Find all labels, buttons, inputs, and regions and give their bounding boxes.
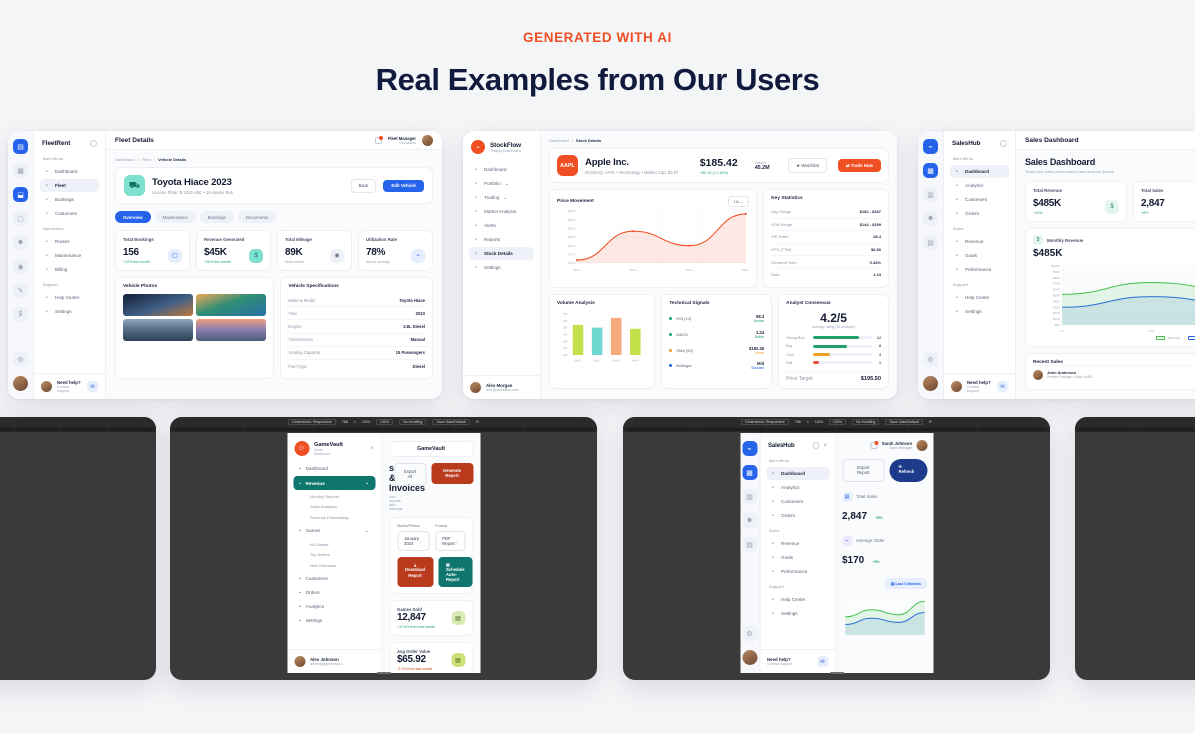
vehicle-hero: ⛟ Toyota Hiace 2023 License Plate: B 123… [115, 167, 433, 204]
sidebar-item-goals[interactable]: •Goals [950, 249, 1009, 262]
sidebar-item-dashboard[interactable]: •Dashboard [40, 165, 99, 178]
dollar-icon: $ [1033, 235, 1043, 245]
device-frame-right-partial[interactable]: ◎ In You 1PersonalBasic info2PackageServ… [1075, 417, 1195, 680]
sidebar-item-bookings[interactable]: •Bookings [40, 193, 99, 206]
rail-users-icon[interactable]: ☻ [923, 211, 938, 226]
watchlist-button[interactable]: ★ Watchlist [788, 158, 827, 173]
avatar [951, 381, 962, 392]
dt-width[interactable]: 768 [342, 420, 348, 424]
period-label: Month/Period [397, 524, 429, 528]
stat-value: $485K [1033, 198, 1061, 209]
stock-sidebar[interactable]: ⌁ StockFlow Trading Dashboard •Dashboard… [463, 131, 541, 399]
sidebar-item-customers[interactable]: •Customers [950, 193, 1009, 206]
mobile-nav[interactable]: Main Menu•Dashboard•Analytics•Customers•… [760, 453, 835, 621]
sidebar-item-settings[interactable]: •Settings [766, 607, 829, 620]
status-dot [669, 364, 672, 367]
nav-section-label: Support [944, 277, 1015, 290]
sidebar-item-label: Settings [55, 309, 72, 314]
sidebar-item-label: Orders [965, 211, 979, 216]
sidebar-item-settings[interactable]: •Settings [950, 305, 1009, 318]
dt-x: × [807, 420, 809, 424]
mobile-brand: SalesHub [768, 443, 795, 449]
signal-value: $182.45 [749, 346, 764, 351]
rail-chart-icon[interactable]: ▥ [742, 489, 757, 504]
dt-height[interactable]: 1024 [815, 420, 823, 424]
question-icon: • [46, 295, 51, 301]
gv-item-label: Orders [306, 590, 320, 595]
sidebar-item-label: Trading [484, 195, 499, 200]
nav-section-label: Sales [760, 523, 835, 536]
breadcrumb-item[interactable]: Stock Details [576, 138, 601, 143]
nav-section-label: Support [760, 579, 835, 592]
gamevault-nav[interactable]: •Dashboard•Revenue⌄Monthly ReportsSales … [287, 461, 381, 628]
stat-delta: Miles driven [285, 260, 304, 264]
target-value: $195.50 [861, 376, 881, 382]
period-value: January 2024 [404, 536, 419, 546]
sidebar-item-market-analysis[interactable]: •Market Analysis [469, 205, 534, 218]
gear-icon: • [956, 309, 961, 315]
consensus-bar [813, 353, 872, 356]
breadcrumb-item[interactable]: Dashboard [549, 138, 569, 143]
svg-text:Week 2: Week 2 [594, 359, 602, 362]
chat-icon[interactable]: ✉ [87, 381, 98, 392]
rail-clipboard-icon[interactable]: ▤ [923, 235, 938, 250]
rail-users-icon[interactable]: ☻ [742, 513, 757, 528]
sidebar-item-label: Performance [965, 267, 991, 272]
grid-icon: • [772, 471, 777, 477]
period-select[interactable]: January 2024⌄ [397, 531, 429, 551]
consensus-count: 1 [872, 361, 881, 365]
legend-item: Last Year [1188, 336, 1195, 340]
svg-text:$185.00: $185.00 [568, 227, 576, 230]
devtools-toolbar[interactable]: Dimensions: Responsive 768 × 1024 100% N… [623, 417, 1050, 427]
sales-sidebar-header: SalesHub [944, 131, 1015, 151]
bell-icon[interactable] [871, 442, 878, 449]
key-stat-value: $182 - $187 [860, 209, 881, 214]
svg-text:50M: 50M [563, 326, 567, 329]
sidebar-item-label: Help Center [55, 295, 80, 300]
sidebar-item-revenue[interactable]: •Revenue [950, 235, 1009, 248]
consensus-row: Strong Buy12 [786, 334, 881, 342]
gauge-icon: ◉ [330, 249, 344, 263]
rail-gear-icon[interactable]: ⚙ [742, 626, 757, 641]
breadcrumb-item[interactable]: Dashboard [115, 157, 135, 162]
gamevault-drawer[interactable]: ⚇ GameVault Admin Dashboard × •Dashboard… [287, 433, 382, 673]
sidebar-item-label: Analytics [781, 485, 799, 490]
stat-delta: Above average [366, 260, 390, 264]
gv-subitem[interactable]: Sales Analytics [287, 502, 381, 513]
mobile-drawer[interactable]: SalesHub × Main Menu•Dashboard•Analytics… [760, 433, 836, 673]
tab-documents[interactable]: Documents [238, 211, 276, 223]
dt-zoom[interactable]: 100% [829, 419, 846, 425]
resize-handle[interactable] [623, 661, 1050, 679]
sidebar-item-fleet[interactable]: •Fleet [40, 179, 99, 192]
rail-dollar-icon[interactable]: $ [13, 307, 28, 322]
svg-text:$80K: $80K [1053, 276, 1060, 280]
breadcrumb[interactable]: Dashboard›Stock Details [549, 138, 889, 143]
key-stat-row: 52W Range$144 - $199 [771, 219, 881, 232]
sidebar-item-alerts[interactable]: •Alerts [469, 219, 534, 232]
screenshot-card-stockflow[interactable]: ⌁ StockFlow Trading Dashboard •Dashboard… [463, 131, 897, 399]
export-all-button[interactable]: Export All [394, 463, 426, 486]
fleet-icon-rail[interactable]: ▤ ▦ ⬓ ▢ ☻ ◉ ✎ $ ⚙ [8, 131, 34, 399]
fleet-help-block[interactable]: Need help? Contact support ✉ [34, 373, 105, 399]
rail-grid-icon[interactable]: ▦ [923, 163, 938, 178]
stat-value: 156 [123, 247, 150, 258]
consensus-label: Hold [786, 353, 813, 357]
rail-users-icon[interactable]: ☻ [13, 235, 28, 250]
revenue-label: Monthly Revenue [1047, 238, 1083, 243]
photo-thumb[interactable] [123, 319, 193, 341]
gv-item-label: Settings [306, 618, 323, 623]
gv-item-games[interactable]: •Games⌄ [293, 524, 375, 538]
svg-text:Jan: Jan [1059, 329, 1064, 333]
search-icon[interactable] [1000, 140, 1007, 147]
photo-thumb[interactable] [123, 294, 193, 316]
dollar-icon: • [956, 239, 961, 245]
svg-text:$190.00: $190.00 [568, 210, 576, 213]
rotate-icon[interactable]: ⟳ [476, 420, 479, 424]
stat-card: Revenue Generated$45K+20% this month$ [196, 230, 271, 271]
rail-clipboard-icon[interactable]: ▤ [742, 537, 757, 552]
calendar-icon: • [46, 197, 51, 203]
mob-stat2-label: Average Order [856, 538, 885, 543]
sidebar-item-analytics[interactable]: •Analytics [766, 481, 829, 494]
rail-logo-icon[interactable]: ▤ [13, 139, 28, 154]
stock-change: +$2.15 (+1.18%) [700, 171, 738, 175]
status-dot [669, 317, 672, 320]
back-button[interactable]: Back [351, 179, 377, 193]
avatar[interactable] [916, 440, 927, 451]
sidebar-item-label: Customers [781, 499, 803, 504]
sale-row: John AndersonPremier Package • Order #14… [1033, 365, 1195, 383]
key-stat-label: Dividend Yield [771, 260, 796, 265]
stock-nav[interactable]: •Dashboard•Portfolio⌄•Trading⌄•Market An… [463, 162, 540, 275]
gv-item-label: Games [306, 528, 321, 533]
sidebar-item-portfolio[interactable]: •Portfolio⌄ [469, 177, 534, 190]
chevron-down-icon: ⌄ [365, 528, 369, 534]
mobile-icon-rail[interactable]: ⌁ ▦ ▥ ☻ ▤ ⚙ [740, 433, 760, 673]
generate-report-button[interactable]: Generate Report [431, 463, 473, 484]
rail-wrench-icon[interactable]: ✎ [13, 283, 28, 298]
sidebar-item-label: Alerts [484, 223, 496, 228]
stat-delta: +20% this month [204, 260, 231, 264]
stat-value: 2,847 [1141, 198, 1165, 209]
volume-value: 45.2M [755, 165, 770, 171]
download-report-button[interactable]: ⤓ Download Report [397, 557, 433, 587]
refresh-button[interactable]: ⟳ Refresh [890, 459, 927, 482]
specs-title: Vehicle Specifications [288, 284, 425, 289]
sidebar-item-label: Customers [965, 197, 987, 202]
dt-device[interactable]: Save Gate/Default [432, 419, 469, 425]
spec-key: Make & Model [288, 298, 315, 303]
devtools-tabs[interactable] [1075, 427, 1195, 432]
breadcrumb-sep: › [154, 157, 155, 162]
devtools-tabs[interactable] [170, 427, 597, 432]
sidebar-item-performance[interactable]: •Performance [766, 565, 829, 578]
legend-swatch [1156, 336, 1165, 340]
gv-item-revenue[interactable]: •Revenue⌄ [293, 476, 375, 490]
rail-chart-icon[interactable]: ▥ [923, 187, 938, 202]
spec-key: Engine [288, 324, 301, 329]
screenshot-card-fleetrent[interactable]: ▤ ▦ ⬓ ▢ ☻ ◉ ✎ $ ⚙ FleetRent Main [8, 131, 442, 399]
svg-text:$100K: $100K [1051, 264, 1060, 268]
dt-zoom[interactable]: 100% [376, 419, 393, 425]
photo-thumb[interactable] [196, 319, 266, 341]
svg-text:20M: 20M [563, 347, 567, 350]
sidebar-item-label: Goals [781, 555, 793, 560]
page-title: Sales Dashboard [1025, 157, 1195, 167]
mob-stat1-value: 2,847 [842, 511, 867, 522]
devtools-tabs[interactable] [623, 427, 1050, 432]
sidebar-item-trading[interactable]: •Trading⌄ [469, 191, 534, 204]
sales-icon-rail[interactable]: ⌁ ▦ ▥ ☻ ▤ ⚙ [918, 131, 944, 399]
stock-user-block[interactable]: Alex Morgan alex@stockflow.com [463, 375, 540, 399]
gv-topbar-title: GameVault [389, 441, 473, 457]
tag-icon: • [475, 251, 480, 257]
sidebar-item-analytics[interactable]: •Analytics [950, 179, 1009, 192]
home-icon: • [475, 167, 480, 173]
chevron-down-icon: ⌄ [365, 480, 369, 486]
devtools-tabs[interactable] [0, 427, 156, 432]
vehicle-photos-panel: Vehicle Photos [115, 277, 274, 379]
users-icon: • [46, 211, 51, 217]
sales-sidebar[interactable]: SalesHub Main Menu•Dashboard•Analytics•C… [944, 131, 1016, 399]
export-report-button[interactable]: Export Report [842, 459, 885, 482]
gv-subitem[interactable]: Top Sellers [287, 549, 381, 560]
gv-item-label: Customers [306, 576, 328, 581]
vehicle-title: Toyota Hiace 2023 [152, 177, 233, 188]
rail-gear-icon[interactable]: ⚙ [923, 352, 938, 367]
svg-text:$182.50: $182.50 [568, 236, 576, 239]
price-line-chart: $190.00$187.50$185.00$182.50$180.00$177.… [557, 207, 749, 273]
dollar-icon: $ [1105, 200, 1119, 214]
sidebar-item-billing[interactable]: •Billing [40, 263, 99, 276]
key-stats-list: Day Range$182 - $18752W Range$144 - $199… [771, 206, 881, 281]
tab-overview[interactable]: Overview [115, 211, 151, 223]
gamepad-icon: ▤ [451, 611, 465, 625]
fleet-stat-cards: Total Bookings156+12% this month▢Revenue… [115, 230, 433, 271]
svg-text:Feb: Feb [1149, 329, 1155, 333]
question-icon: • [772, 597, 777, 603]
bell-icon[interactable] [375, 137, 382, 144]
sidebar-item-label: Dashboard [965, 169, 989, 174]
fleet-topbar: Fleet Details Fleet Manager Operations [106, 131, 442, 150]
sidebar-item-orders[interactable]: •Orders [950, 207, 1009, 220]
format-label: Format [435, 524, 465, 528]
volume-analysis-panel: Volume Analysis 70M60M50M40M30M20M10MWee… [549, 294, 655, 390]
schedule-label: Schedule Auto-Report [446, 567, 465, 582]
sidebar-item-routes[interactable]: •Routes [40, 235, 99, 248]
consensus-count: 8 [872, 344, 881, 348]
target-icon: • [772, 555, 777, 561]
breadcrumb[interactable]: Dashboard›Fleet›Vehicle Details [115, 157, 433, 162]
sidebar-item-orders[interactable]: •Orders [766, 509, 829, 522]
trend-icon: • [772, 569, 777, 575]
stat-card: Utilization Rate78%Above average⌁ [358, 230, 433, 271]
sidebar-item-settings[interactable]: •Settings [469, 261, 534, 274]
devtools-toolbar[interactable] [0, 417, 156, 427]
gv-subitem[interactable]: Monthly Reports [287, 491, 381, 502]
sales-help-block[interactable]: Need help? Contact support ✉ [944, 373, 1015, 399]
grid-icon: • [46, 169, 51, 175]
device-frame-left-partial[interactable] [0, 417, 156, 680]
gv-item-dashboard[interactable]: •Dashboard [293, 462, 375, 475]
gv-subitem[interactable]: Revenue Forecasting [287, 512, 381, 523]
rail-gear-icon[interactable]: ⚙ [13, 352, 28, 367]
trend-icon: • [956, 267, 961, 273]
stat-label: Total Mileage [285, 237, 344, 242]
avatar [470, 382, 481, 393]
stock-hero: AAPL Apple Inc. NASDAQ: AAPL • Technolog… [549, 148, 889, 183]
devtools-toolbar[interactable] [1075, 417, 1195, 427]
photo-grid[interactable] [123, 294, 266, 341]
tab-maintenance[interactable]: Maintenance [155, 211, 196, 223]
devtools-toolbar[interactable]: Dimensions: Responsive 768 × 1024 100% N… [170, 417, 597, 427]
dollar-icon: • [772, 541, 777, 547]
fleet-sidebar[interactable]: FleetRent Main Menu•Dashboard•Fleet•Book… [34, 131, 106, 399]
gv-subitem[interactable]: All Games [287, 539, 381, 550]
resize-handle[interactable] [170, 661, 597, 679]
rail-calendar-icon[interactable]: ▢ [13, 211, 28, 226]
svg-text:Week 4: Week 4 [632, 359, 640, 362]
trade-now-button[interactable]: ⇄ Trade Now [838, 159, 881, 172]
vehicle-tabs[interactable]: OverviewMaintenanceBookingsDocuments [115, 211, 433, 223]
breadcrumb-item[interactable]: Vehicle Details [158, 157, 186, 162]
device-frame-saleshub-mobile[interactable]: Dimensions: Responsive 768 × 1024 100% N… [623, 417, 1050, 680]
rail-logo-icon[interactable]: ⌁ [742, 441, 757, 456]
search-icon[interactable] [812, 442, 819, 449]
tab-bookings[interactable]: Bookings [200, 211, 234, 223]
stat-delta: +12% [1033, 211, 1061, 215]
consensus-bar [813, 336, 872, 339]
sidebar-item-settings[interactable]: •Settings [40, 305, 99, 318]
close-icon[interactable]: × [823, 443, 827, 449]
photos-title: Vehicle Photos [123, 284, 266, 289]
gv-subitem[interactable]: New Releases [287, 560, 381, 571]
dt-throttling[interactable]: No throttling [399, 419, 426, 425]
avatar[interactable] [422, 135, 433, 146]
home-icon: • [299, 466, 301, 471]
saleshub-viewport[interactable]: ⌁ ▦ ▥ ☻ ▤ ⚙ SalesHub × Main Menu•Dashboa… [740, 433, 933, 673]
signal-state: Standard [751, 366, 764, 370]
rail-pin-icon[interactable]: ◉ [13, 259, 28, 274]
sidebar-item-stock-details[interactable]: •Stock Details [469, 247, 534, 260]
sidebar-item-label: Bookings [55, 197, 74, 202]
key-stat-row: Dividend Yield0.44% [771, 256, 881, 269]
sidebar-item-dashboard[interactable]: •Dashboard [766, 467, 829, 480]
device-frame-gamevault[interactable]: Dimensions: Responsive 768 × 1024 100% N… [170, 417, 597, 680]
sidebar-item-label: Dashboard [781, 471, 805, 476]
stat-value: $45K [204, 247, 231, 258]
rail-avatar[interactable] [923, 376, 938, 391]
sidebar-item-maintenance[interactable]: •Maintenance [40, 249, 99, 262]
photo-thumb[interactable] [196, 294, 266, 316]
close-icon[interactable]: × [370, 446, 374, 452]
sales-brand: SalesHub [952, 140, 980, 147]
refresh-label: Refresh [899, 469, 915, 474]
sidebar-item-help-center[interactable]: •Help Center [40, 291, 99, 304]
sidebar-item-revenue[interactable]: •Revenue [766, 537, 829, 550]
rail-grid-icon[interactable]: ▦ [742, 465, 757, 480]
sidebar-item-help-center[interactable]: •Help Center [950, 291, 1009, 304]
sidebar-item-customers[interactable]: •Customers [766, 495, 829, 508]
key-stat-row: Beta1.24 [771, 269, 881, 281]
users-icon: • [956, 197, 961, 203]
gv-item-settings[interactable]: •Settings [293, 614, 375, 627]
page-header: GENERATED WITH AI Real Examples from Our… [0, 0, 1195, 98]
target-icon: • [956, 253, 961, 259]
signals-list: RSI (14)68.3NeutralMACD1.24BullishSMA (5… [669, 311, 764, 374]
range-chip[interactable]: ▤ Last 6 Months [885, 578, 927, 589]
analyst-consensus-panel: Analyst Consensus 4.2/5 Average rating (… [778, 294, 889, 390]
sidebar-item-label: Maintenance [55, 253, 81, 258]
key-stat-value: $144 - $199 [860, 222, 881, 227]
screenshot-card-saleshub[interactable]: ⌁ ▦ ▥ ☻ ▤ ⚙ SalesHub Main Menu•Dashboard… [918, 131, 1195, 399]
schedule-report-button[interactable]: ▤ Schedule Auto-Report [438, 557, 473, 587]
chevron-down-icon: ⌄ [455, 539, 458, 544]
range-select[interactable]: 1M ⌄ [728, 196, 750, 207]
nav-section-label: Sales [944, 221, 1015, 234]
sidebar-item-customers[interactable]: •Customers [40, 207, 99, 220]
gamevault-main: GameVault s & Invoices nue reports and m… [382, 433, 480, 673]
key-stat-label: 52W Range [771, 222, 792, 227]
spec-row: Year2023 [288, 307, 425, 320]
dt-device[interactable]: Save Gate/Default [885, 419, 922, 425]
sales-nav[interactable]: Main Menu•Dashboard•Analytics•Customers•… [944, 151, 1015, 319]
trend-icon: • [299, 604, 301, 609]
sidebar-item-label: Market Analysis [484, 209, 516, 214]
sidebar-item-dashboard[interactable]: •Dashboard [469, 163, 534, 176]
gv-item-analytics[interactable]: •Analytics [293, 600, 375, 613]
edit-vehicle-button[interactable]: Edit Vehicle [383, 180, 424, 192]
sale-meta: Premier Package • Order #1482 [1047, 375, 1092, 379]
format-select[interactable]: PDF Report⌄ [435, 531, 465, 551]
sidebar-item-reports[interactable]: •Reports [469, 233, 534, 246]
svg-text:$60K: $60K [1053, 288, 1060, 292]
rail-van-icon[interactable]: ⬓ [13, 187, 28, 202]
chat-icon[interactable]: ✉ [997, 381, 1008, 392]
fleet-nav[interactable]: Main Menu•Dashboard•Fleet•Bookings•Custo… [34, 151, 105, 319]
dt-width[interactable]: 768 [795, 420, 801, 424]
dt-height[interactable]: 1024 [362, 420, 370, 424]
gamevault-viewport[interactable]: ⚇ GameVault Admin Dashboard × •Dashboard… [287, 433, 480, 673]
key-stat-label: Beta [771, 272, 779, 277]
rail-grid-icon[interactable]: ▦ [13, 163, 28, 178]
sidebar-item-goals[interactable]: •Goals [766, 551, 829, 564]
sidebar-item-dashboard[interactable]: •Dashboard [950, 165, 1009, 178]
stat-card: Total Mileage89KMiles driven◉ [277, 230, 352, 271]
gv-item-customers[interactable]: •Customers [293, 572, 375, 585]
consensus-count: 4 [872, 353, 881, 357]
chevron-down-icon: ⌄ [505, 181, 509, 187]
search-icon[interactable] [90, 140, 97, 147]
dt-dimensions[interactable]: Dimensions: Responsive [741, 419, 789, 425]
dt-dimensions[interactable]: Dimensions: Responsive [288, 419, 336, 425]
gv-item-orders[interactable]: •Orders [293, 586, 375, 599]
dt-throttling[interactable]: No throttling [852, 419, 879, 425]
sidebar-item-label: Help Center [781, 597, 806, 602]
rail-logo-icon[interactable]: ⌁ [923, 139, 938, 154]
sidebar-item-performance[interactable]: •Performance [950, 263, 1009, 276]
rail-avatar[interactable] [13, 376, 28, 391]
sidebar-item-help-center[interactable]: •Help Center [766, 593, 829, 606]
breadcrumb-item[interactable]: Fleet [142, 157, 151, 162]
svg-text:Week 3: Week 3 [613, 359, 621, 362]
status-dot [669, 349, 672, 352]
rotate-icon[interactable]: ⟳ [929, 420, 932, 424]
svg-text:$70K: $70K [1053, 282, 1060, 286]
